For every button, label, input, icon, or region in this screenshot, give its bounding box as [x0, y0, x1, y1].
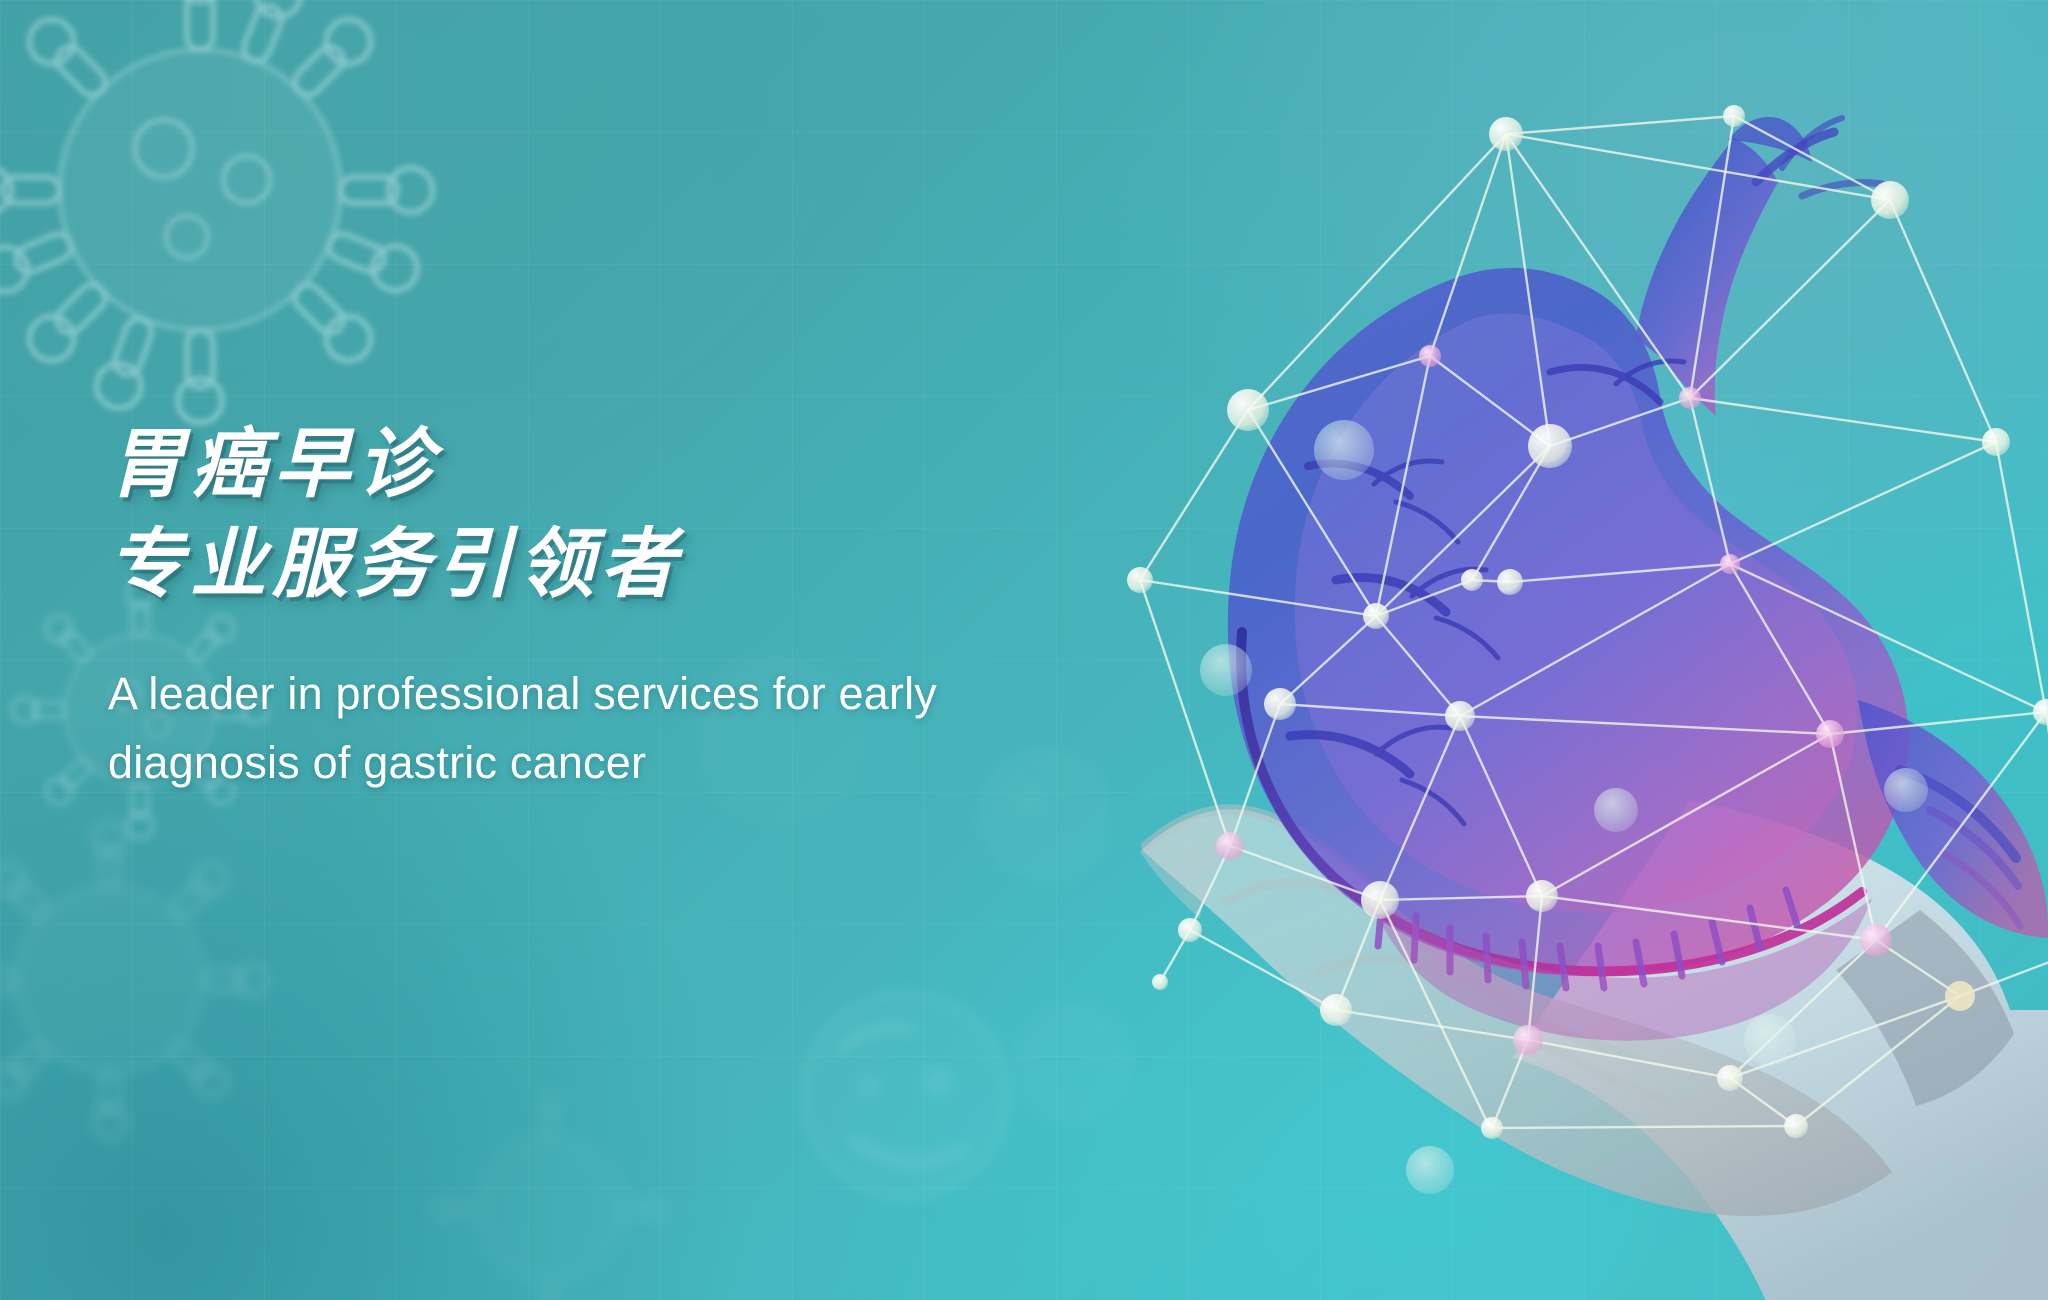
- headline-block: 胃癌早诊 专业服务引领者 A leader in professional se…: [108, 415, 1128, 797]
- hand-holding-stomach-artwork: [1130, 110, 2048, 1300]
- subtitle-english-line-1: A leader in professional services for ea…: [108, 659, 1128, 728]
- virus-particle-motif: [740, 930, 1070, 1260]
- subtitle-english-line-2: diagnosis of gastric cancer: [108, 728, 1128, 797]
- virus-particle-motif: [420, 1080, 680, 1300]
- virus-particle-motif: [0, 800, 290, 1200]
- promo-banner: 胃癌早诊 专业服务引领者 A leader in professional se…: [0, 0, 2048, 1300]
- virus-particle-motif: [0, 0, 460, 450]
- headline-chinese-line-2: 专业服务引领者: [108, 515, 1128, 615]
- subtitle-english: A leader in professional services for ea…: [108, 659, 1128, 797]
- headline-chinese-line-1: 胃癌早诊: [108, 415, 1128, 515]
